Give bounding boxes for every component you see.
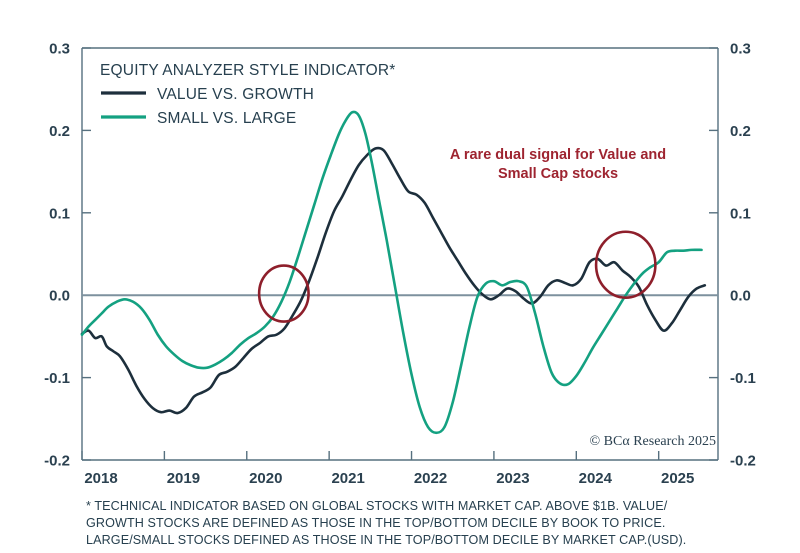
y-tick-label-right-5: -0.2 <box>730 453 756 470</box>
x-tick-label-6: 2024 <box>579 470 613 487</box>
y-tick-label-left-0: 0.3 <box>49 41 70 58</box>
chart-canvas: 0.30.20.10.0-0.1-0.2 0.30.20.10.0-0.1-0.… <box>0 0 800 553</box>
copyright-notice: © BCα Research 2025 <box>590 434 716 449</box>
y-tick-label-right-2: 0.1 <box>730 205 751 222</box>
dual-signal-annotation: A rare dual signal for Value and Small C… <box>450 147 666 182</box>
y-tick-label-left-4: -0.1 <box>44 370 70 387</box>
y-tick-label-right-4: -0.1 <box>730 370 756 387</box>
chart-title: EQUITY ANALYZER STYLE INDICATOR* <box>100 62 396 79</box>
legend-label-small-vs-large: SMALL VS. LARGE <box>157 110 296 127</box>
footnote-line-1: * TECHNICAL INDICATOR BASED ON GLOBAL ST… <box>86 499 668 513</box>
y-tick-label-left-3: 0.0 <box>49 288 70 305</box>
y-axis-ticks-left: 0.30.20.10.0-0.1-0.2 <box>44 41 91 470</box>
x-tick-label-3: 2021 <box>331 470 364 487</box>
x-tick-label-1: 2019 <box>167 470 200 487</box>
footnote-line-2: GROWTH STOCKS ARE DEFINED AS THOSE IN TH… <box>86 516 665 530</box>
legend: VALUE VS. GROWTH SMALL VS. LARGE <box>101 86 314 127</box>
equity-analyzer-style-indicator-chart: 0.30.20.10.0-0.1-0.2 0.30.20.10.0-0.1-0.… <box>0 0 800 553</box>
x-axis-ticks: 20182019202020212022202320242025 <box>82 451 694 487</box>
y-axis-ticks-right: 0.30.20.10.0-0.1-0.2 <box>709 41 756 470</box>
x-tick-label-2: 2020 <box>249 470 282 487</box>
annotation-line-1: A rare dual signal for Value and <box>450 147 666 163</box>
x-tick-label-4: 2022 <box>414 470 447 487</box>
legend-label-value-vs-growth: VALUE VS. GROWTH <box>157 86 314 103</box>
footnote-block: * TECHNICAL INDICATOR BASED ON GLOBAL ST… <box>86 499 686 547</box>
x-tick-label-7: 2025 <box>661 470 694 487</box>
x-tick-label-0: 2018 <box>84 470 117 487</box>
y-tick-label-right-3: 0.0 <box>730 288 751 305</box>
y-tick-label-right-0: 0.3 <box>730 41 751 58</box>
footnote-line-3: LARGE/SMALL STOCKS DEFINED AS THOSE IN T… <box>86 533 686 547</box>
x-tick-label-5: 2023 <box>496 470 529 487</box>
y-tick-label-left-1: 0.2 <box>49 123 70 140</box>
y-tick-label-right-1: 0.2 <box>730 123 751 140</box>
y-tick-label-left-2: 0.1 <box>49 205 70 222</box>
y-tick-label-left-5: -0.2 <box>44 453 70 470</box>
highlight-circles-group <box>259 232 655 322</box>
annotation-line-2: Small Cap stocks <box>498 166 618 182</box>
